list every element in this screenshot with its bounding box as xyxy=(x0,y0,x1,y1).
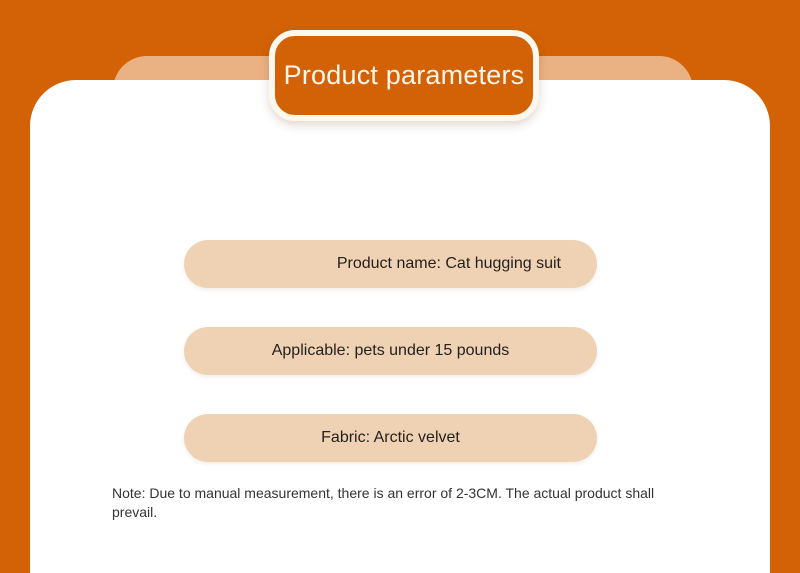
param-product-name-label: Product name: Cat hugging suit xyxy=(337,256,561,272)
param-applicable: Applicable: pets under 15 pounds xyxy=(184,327,597,375)
measurement-note: Note: Due to manual measurement, there i… xyxy=(112,484,692,522)
param-fabric: Fabric: Arctic velvet xyxy=(184,414,597,462)
page-title: Product parameters xyxy=(284,62,525,89)
param-fabric-label: Fabric: Arctic velvet xyxy=(321,430,460,446)
page-title-badge: Product parameters xyxy=(269,30,539,121)
product-parameters-page: Product parameters Product name: Cat hug… xyxy=(0,0,800,573)
param-product-name: Product name: Cat hugging suit xyxy=(184,240,597,288)
parameter-list: Product name: Cat hugging suit Applicabl… xyxy=(184,240,597,501)
param-applicable-label: Applicable: pets under 15 pounds xyxy=(272,343,510,359)
